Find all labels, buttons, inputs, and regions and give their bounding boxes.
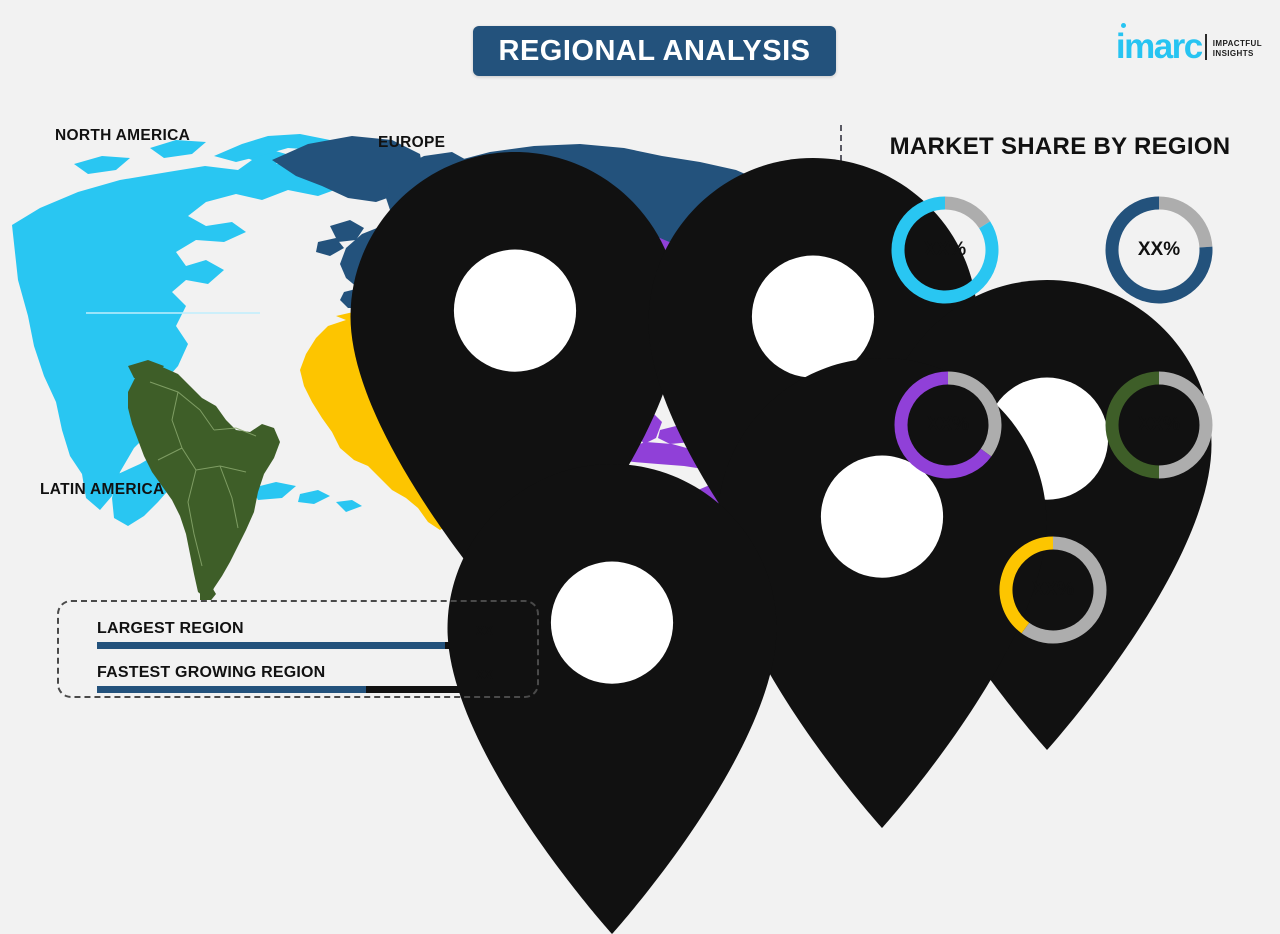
logo-tagline-line1: IMPACTFUL — [1213, 39, 1262, 49]
logo-wordmark-text: imarc — [1116, 27, 1202, 66]
region-summary-box: LARGEST REGION XX FASTEST GROWING REGION… — [57, 600, 539, 698]
legend-value: XX — [476, 623, 493, 638]
donut-chart-north-america: XX% — [885, 190, 1005, 310]
regional-analysis-infographic: REGIONAL ANALYSIS imarc IMPACTFUL INSIGH… — [0, 0, 1280, 720]
legend-row-largest-region: LARGEST REGION XX — [97, 620, 493, 649]
legend-progress-fill — [97, 686, 366, 693]
world-map: NORTH AMERICA EUROPE ASIA PACIFIC MIDDLE… — [0, 130, 830, 600]
legend-label: FASTEST GROWING REGION — [97, 664, 325, 682]
logo-divider — [1205, 34, 1207, 60]
map-pin-europe[interactable] — [398, 158, 426, 198]
logo-dot-icon — [1121, 23, 1126, 28]
donut-value-label: XX% — [1099, 365, 1219, 485]
legend-progress-bar — [97, 686, 493, 693]
map-pin-middle-east-africa[interactable] — [467, 358, 495, 398]
donut-value-label: XX% — [993, 530, 1113, 650]
map-pin-latin-america[interactable] — [197, 464, 225, 504]
imarc-logo: imarc IMPACTFUL INSIGHTS — [1116, 22, 1262, 62]
donut-chart-europe: XX% — [1099, 190, 1219, 310]
legend-progress-fill — [97, 642, 445, 649]
map-label-europe: EUROPE — [378, 133, 445, 153]
logo-tagline: IMPACTFUL INSIGHTS — [1213, 39, 1262, 59]
donut-chart-asia-pacific: XX% — [888, 365, 1008, 485]
donut-value-label: XX% — [888, 365, 1008, 485]
donut-chart-latin-america: XX% — [1099, 365, 1219, 485]
legend-label: LARGEST REGION — [97, 620, 244, 638]
donut-chart-middle-east-africa: XX% — [993, 530, 1113, 650]
market-share-title: MARKET SHARE BY REGION — [840, 133, 1280, 161]
logo-wordmark: imarc — [1116, 32, 1202, 62]
map-pin-asia-pacific[interactable] — [632, 280, 660, 320]
page-title-banner: REGIONAL ANALYSIS — [473, 26, 836, 76]
donut-value-label: XX% — [1099, 190, 1219, 310]
page-title: REGIONAL ANALYSIS — [499, 35, 811, 68]
legend-value: XX — [476, 667, 493, 682]
legend-progress-bar — [97, 642, 493, 649]
map-label-north-america: NORTH AMERICA — [55, 126, 190, 146]
legend-row-fastest-growing-region: FASTEST GROWING REGION XX — [97, 664, 493, 693]
logo-tagline-line2: INSIGHTS — [1213, 49, 1262, 59]
donut-value-label: XX% — [885, 190, 1005, 310]
market-share-donut-group: XX% XX% XX% XX% XX% — [840, 180, 1280, 680]
map-pin-north-america[interactable] — [100, 152, 128, 192]
